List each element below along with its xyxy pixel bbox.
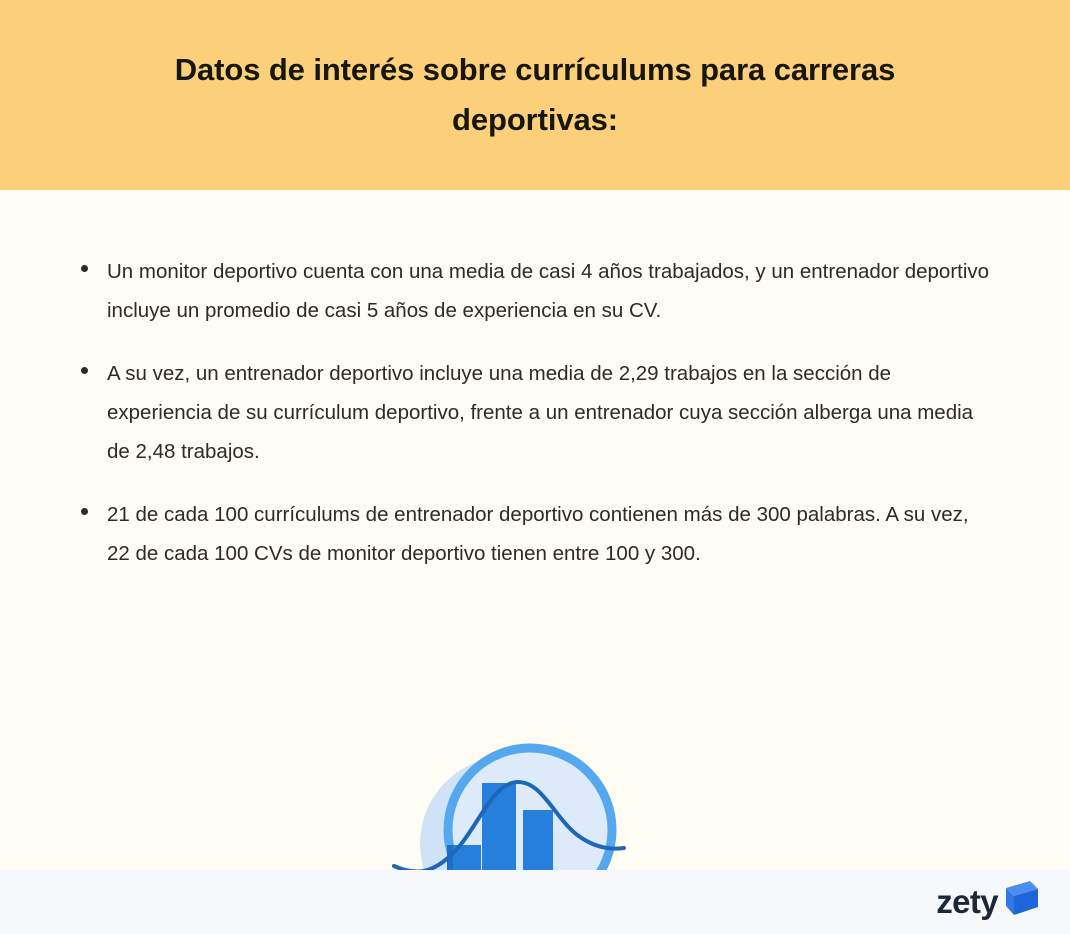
facts-bullet-list: Un monitor deportivo cuenta con una medi…: [72, 252, 997, 574]
list-item-text: 21 de cada 100 currículums de entrenador…: [107, 503, 969, 565]
zety-logo[interactable]: zety: [936, 879, 1042, 925]
list-item: Un monitor deportivo cuenta con una medi…: [72, 252, 997, 331]
zety-wordmark: zety: [936, 885, 998, 920]
footer-band: zety: [0, 870, 1070, 934]
list-item-text: A su vez, un entrenador deportivo incluy…: [107, 362, 973, 464]
bullet-dot-icon: [81, 265, 88, 272]
zety-ribbon-icon: [1002, 879, 1042, 919]
infographic-page: Datos de interés sobre currículums para …: [0, 0, 1070, 934]
header-band: Datos de interés sobre currículums para …: [0, 0, 1070, 190]
list-item: A su vez, un entrenador deportivo incluy…: [72, 354, 997, 472]
page-title: Datos de interés sobre currículums para …: [115, 45, 955, 145]
content-area: Un monitor deportivo cuenta con una medi…: [0, 190, 1070, 934]
list-item-text: Un monitor deportivo cuenta con una medi…: [107, 260, 989, 322]
list-item: 21 de cada 100 currículums de entrenador…: [72, 495, 997, 574]
bullet-dot-icon: [81, 367, 88, 374]
bullet-dot-icon: [81, 508, 88, 515]
